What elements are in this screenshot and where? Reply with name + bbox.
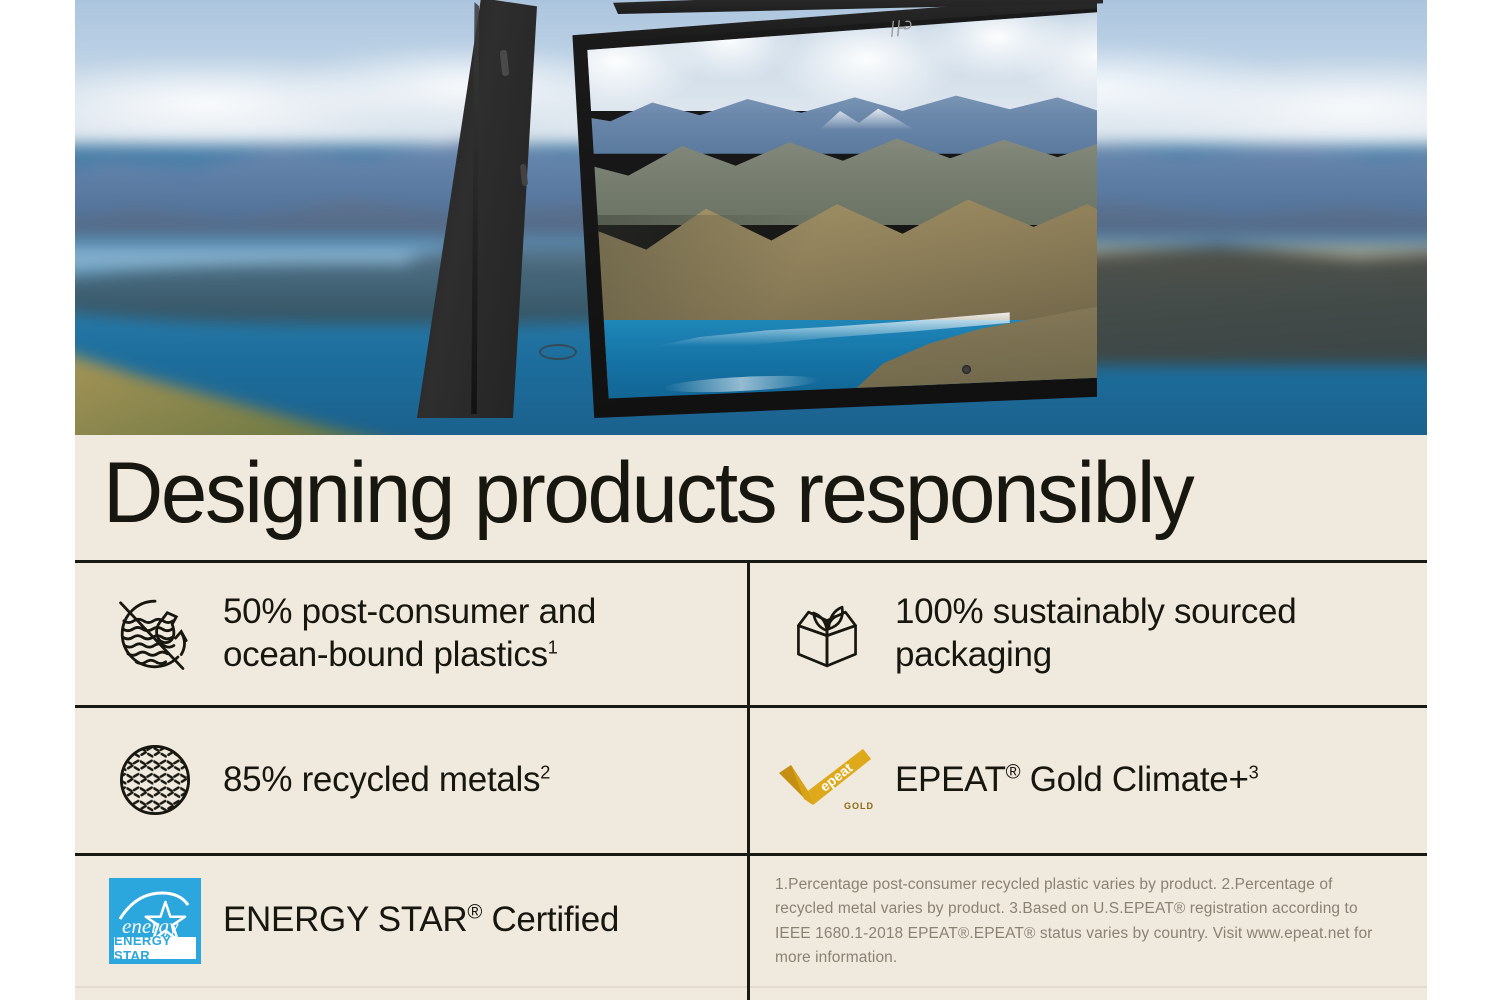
laptop-screen <box>565 0 1097 418</box>
footnote-marker: 2 <box>540 762 550 782</box>
feature-label: ENERGY STAR® Certified <box>207 899 619 942</box>
feature-label-line2: ocean-bound plastics <box>223 635 548 674</box>
feature-label-line1: ENERGY STAR <box>223 900 467 939</box>
feature-label-line1: EPEAT <box>895 760 1006 799</box>
laptop-device <box>417 0 1097 424</box>
info-panel: Designing products responsibly <box>75 435 1427 1000</box>
page-title: Designing products responsibly <box>103 449 1374 538</box>
package-leaf-icon <box>775 592 879 676</box>
footnotes-text: 1.Percentage post-consumer recycled plas… <box>775 873 1375 971</box>
energy-star-bar-text: ENERGY STAR <box>114 933 196 963</box>
registered-mark: ® <box>467 902 482 924</box>
ocean-plastic-no-icon <box>103 593 207 675</box>
wallpaper-landscape <box>565 0 1097 418</box>
feature-label-line2: Gold Climate+ <box>1020 760 1248 799</box>
feature-label-line2: Certified <box>482 900 619 939</box>
energy-star-bar: ENERGY STAR <box>114 937 196 959</box>
feature-ocean-bound-plastics: 50% post-consumer and ocean-bound plasti… <box>103 563 733 705</box>
feature-label: 85% recycled metals2 <box>207 759 550 802</box>
registered-mark: ® <box>1006 761 1021 783</box>
epeat-tier-label: GOLD <box>844 801 874 811</box>
footnotes-block: 1.Percentage post-consumer recycled plas… <box>775 855 1405 986</box>
feature-label-line1: 100% sustainably sourced <box>895 592 1296 631</box>
footnote-marker: 3 <box>1249 762 1259 782</box>
feature-label-line2: packaging <box>895 635 1052 674</box>
epeat-gold-badge-icon: epeat GOLD <box>775 747 879 813</box>
hp-logo-icon <box>888 16 916 40</box>
promo-page: Designing products responsibly <box>0 0 1500 1000</box>
footnote-marker: 1 <box>548 637 558 657</box>
divider-bottom <box>75 986 1427 988</box>
feature-epeat-gold-climate: epeat GOLD EPEAT® Gold Climate+3 <box>775 707 1405 853</box>
feature-label: EPEAT® Gold Climate+3 <box>879 759 1258 802</box>
feature-sustainable-packaging: 100% sustainably sourced packaging <box>775 563 1405 705</box>
feature-label: 50% post-consumer and ocean-bound plasti… <box>207 591 596 676</box>
metal-tread-circle-icon <box>103 738 207 822</box>
feature-label: 100% sustainably sourced packaging <box>879 591 1296 676</box>
energy-star-logo-icon: energy ENERGY STAR <box>103 878 207 964</box>
hero-image <box>75 0 1427 435</box>
feature-label-line1: 50% post-consumer and <box>223 592 596 631</box>
feature-energy-star-certified: energy ENERGY STAR ENERGY STAR® Certifie… <box>103 855 733 986</box>
feature-recycled-metals: 85% recycled metals2 <box>103 707 733 853</box>
laptop-lid-detail <box>539 344 577 360</box>
feature-label-line1: 85% recycled metals <box>223 760 540 799</box>
divider-vertical <box>747 560 750 1000</box>
